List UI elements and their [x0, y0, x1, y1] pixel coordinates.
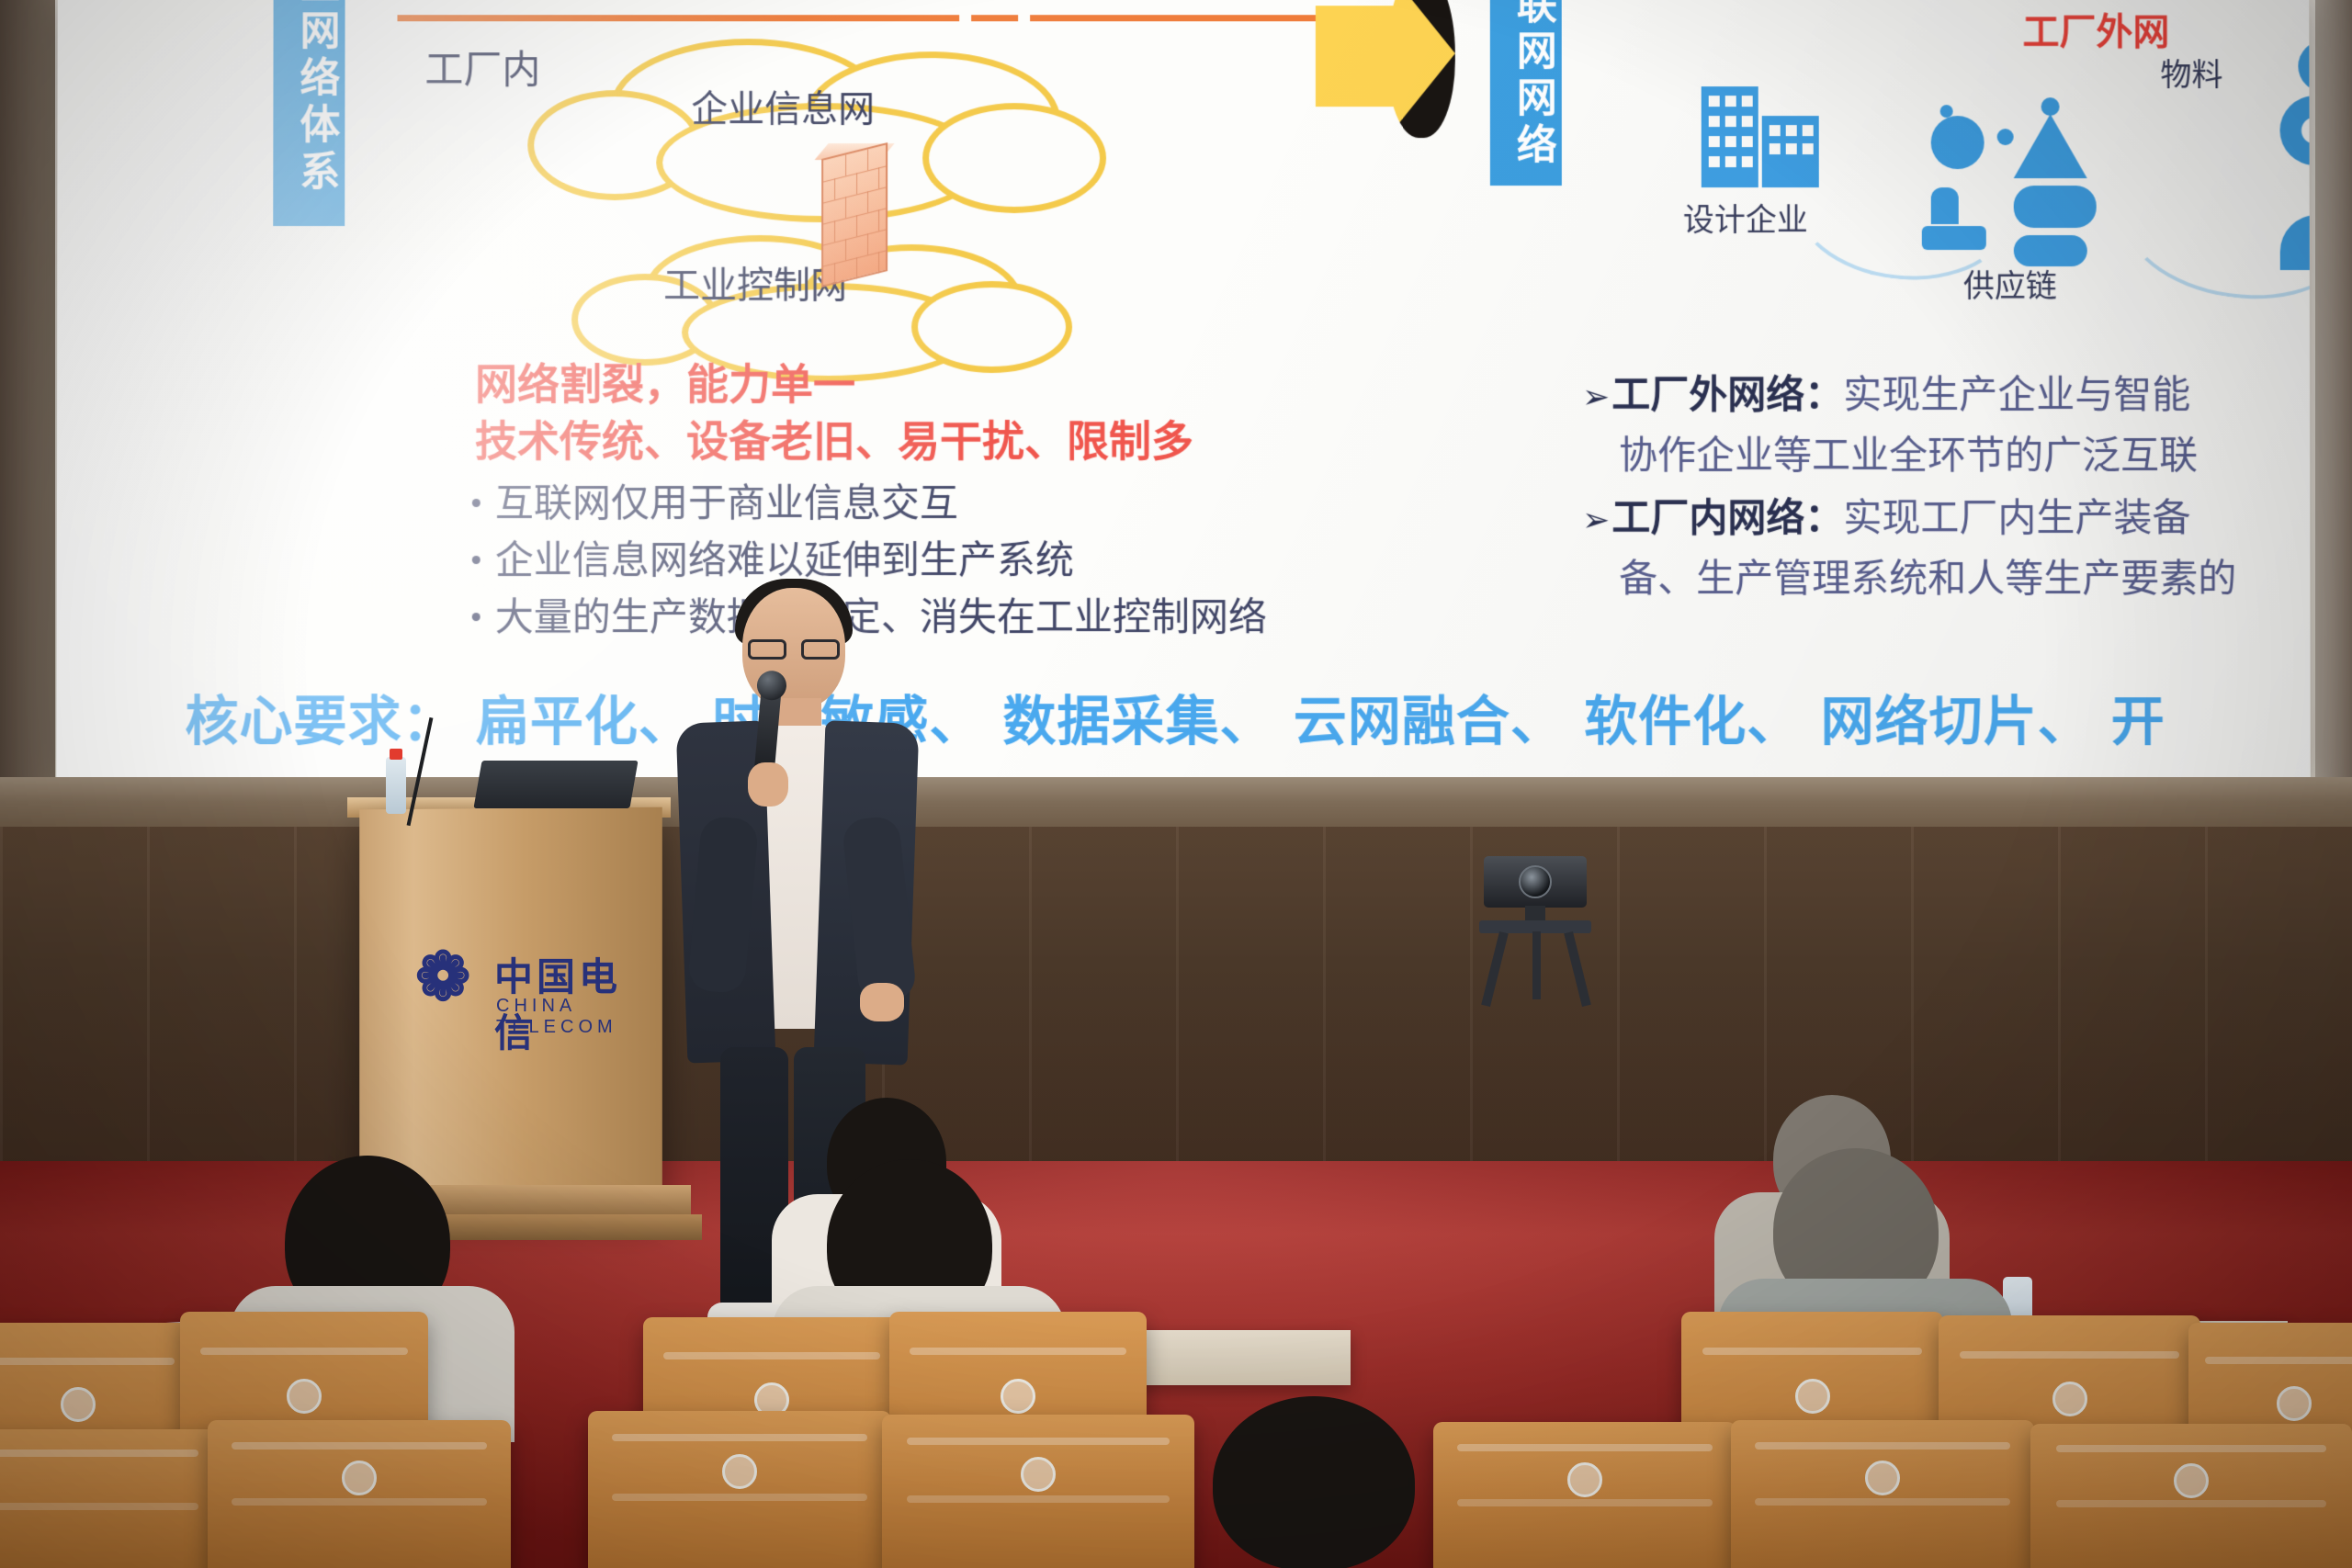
seat-number-badge: [2052, 1382, 2087, 1416]
right-paragraph-4: 备、生产管理系统和人等生产要素的: [1619, 547, 2236, 604]
camera-lens-icon: [1519, 865, 1552, 898]
bullet-dot-icon: [472, 613, 481, 621]
seat-number-badge: [61, 1387, 96, 1422]
red-headline-line-2: 技术传统、设备老旧、易干扰、限制多: [475, 408, 1193, 468]
slide-left-vertical-tab: 业网络体系: [273, 0, 345, 226]
presenter-hand-right: [860, 983, 904, 1021]
china-telecom-mark-icon: ❁: [415, 944, 483, 1012]
seat-icon: [1931, 187, 1959, 224]
seat-number-badge: [1795, 1379, 1830, 1414]
water-bottle-podium: [386, 757, 406, 814]
arrow-bullet-icon: ➢: [1582, 378, 1610, 416]
bullet-text: 互联网仅用于商业信息交互: [495, 480, 958, 525]
enterprise-information-network-label: 企业信息网: [691, 79, 875, 132]
presenter-glasses-icon: [748, 639, 840, 660]
screenshot-root: 业网络体系 互联网网络 工厂内 企业信息网 工业控制网: [0, 0, 2352, 1568]
podium-logo: ❁ 中国电信 CHINA TELECOM: [415, 939, 623, 1027]
supply-chain-label: 供应链: [1963, 261, 2057, 306]
seat-foreground: [208, 1420, 511, 1568]
bullet-dot-icon: [472, 499, 481, 507]
wall-right-shadow: [2315, 0, 2352, 827]
right-paragraph-1-text: 实现生产企业与智能: [1843, 372, 2190, 417]
seat-number-badge: [342, 1461, 377, 1495]
right-paragraph-3-text: 实现工厂内生产装备: [1843, 495, 2190, 540]
firewall-icon: [821, 142, 888, 288]
seat-number-badge: [1001, 1379, 1035, 1414]
audience-head-foreground: [1213, 1396, 1415, 1568]
presentation-slide: 业网络体系 互联网网络 工厂内 企业信息网 工业控制网: [56, 0, 2311, 777]
bullet-item-2: 企业信息网络难以延伸到生产系统: [472, 529, 1074, 585]
right-paragraph-3-bold: 工厂内网络：: [1611, 495, 1843, 540]
supply-chain-small-gear-icon: [1997, 129, 2014, 145]
projection-screen: 业网络体系 互联网网络 工厂内 企业信息网 工业控制网: [56, 0, 2311, 777]
laptop-on-podium: [473, 761, 638, 808]
machine-head-icon: [2041, 97, 2060, 116]
seat-number-badge: [2277, 1386, 2312, 1421]
seat-number-badge: [1021, 1457, 1056, 1492]
seat-foreground: [0, 1429, 220, 1568]
industrial-control-network-label: 工业控制网: [663, 255, 847, 309]
factory-outer-network-label: 工厂外网: [2022, 2, 2169, 55]
podium-logo-english: CHINA TELECOM: [496, 996, 623, 1038]
seat-number-badge: [2174, 1463, 2209, 1498]
orange-divider-rule: [397, 15, 1315, 21]
bullet-text: 企业信息网络难以延伸到生产系统: [495, 537, 1074, 582]
machine-body-icon: [2014, 114, 2087, 178]
right-paragraph-3: ➢工厂内网络：实现工厂内生产装备: [1582, 487, 2190, 543]
wall-left-shadow: [0, 0, 55, 827]
seat-number-badge: [1567, 1462, 1602, 1497]
red-headline-line-1: 网络割裂，能力单一: [475, 351, 855, 412]
right-paragraph-1-bold: 工厂外网络：: [1611, 372, 1843, 417]
seat-foreground: [1433, 1422, 1736, 1568]
back-wall-lower-panelling: [0, 827, 2352, 1167]
bullet-item-1: 互联网仅用于商业信息交互: [472, 472, 958, 528]
slide-bottom-banner: 核心要求： 扁平化、 时间敏感、 数据采集、 云网融合、 软件化、 网络切片、 …: [185, 678, 2165, 755]
factory-inside-label: 工厂内: [424, 39, 540, 95]
supply-chain-pulley-icon: [1931, 116, 1984, 169]
right-paragraph-1: ➢工厂外网络：实现生产企业与智能: [1582, 364, 2190, 420]
presenter-hand-left: [748, 762, 788, 807]
material-gear-icon: [2298, 40, 2310, 92]
tripod-leg: [1532, 931, 1541, 999]
right-paragraph-4-text: 备、生产管理系统和人等生产要素的: [1619, 556, 2236, 601]
right-paragraph-2-text: 协作企业等工业全环节的广泛互联: [1619, 433, 2198, 478]
seat-number-badge: [1865, 1461, 1900, 1495]
arrow-bullet-icon: ➢: [1582, 502, 1610, 539]
seat-foreground: [588, 1411, 891, 1568]
connector-curve-3: [2116, 144, 2311, 312]
seat-foreground: [882, 1415, 1194, 1568]
design-enterprise-building-icon: [1702, 86, 1821, 187]
video-camera: [1484, 856, 1587, 908]
part-icon-1: [2014, 186, 2097, 228]
design-enterprise-label: 设计企业: [1683, 195, 1808, 240]
material-gear-icon-2: [2279, 96, 2310, 165]
right-paragraph-2: 协作企业等工业全环节的广泛互联: [1619, 424, 2198, 480]
seat-number-badge: [287, 1379, 322, 1414]
bullet-dot-icon: [472, 556, 481, 564]
material-label: 物料: [2160, 50, 2222, 95]
seat-number-badge: [722, 1454, 757, 1489]
seat-foreground: [1731, 1420, 2034, 1568]
seat-foreground: [2030, 1424, 2352, 1568]
transition-arrow-icon: [1316, 0, 1453, 175]
seat-base-icon: [1922, 226, 1986, 250]
